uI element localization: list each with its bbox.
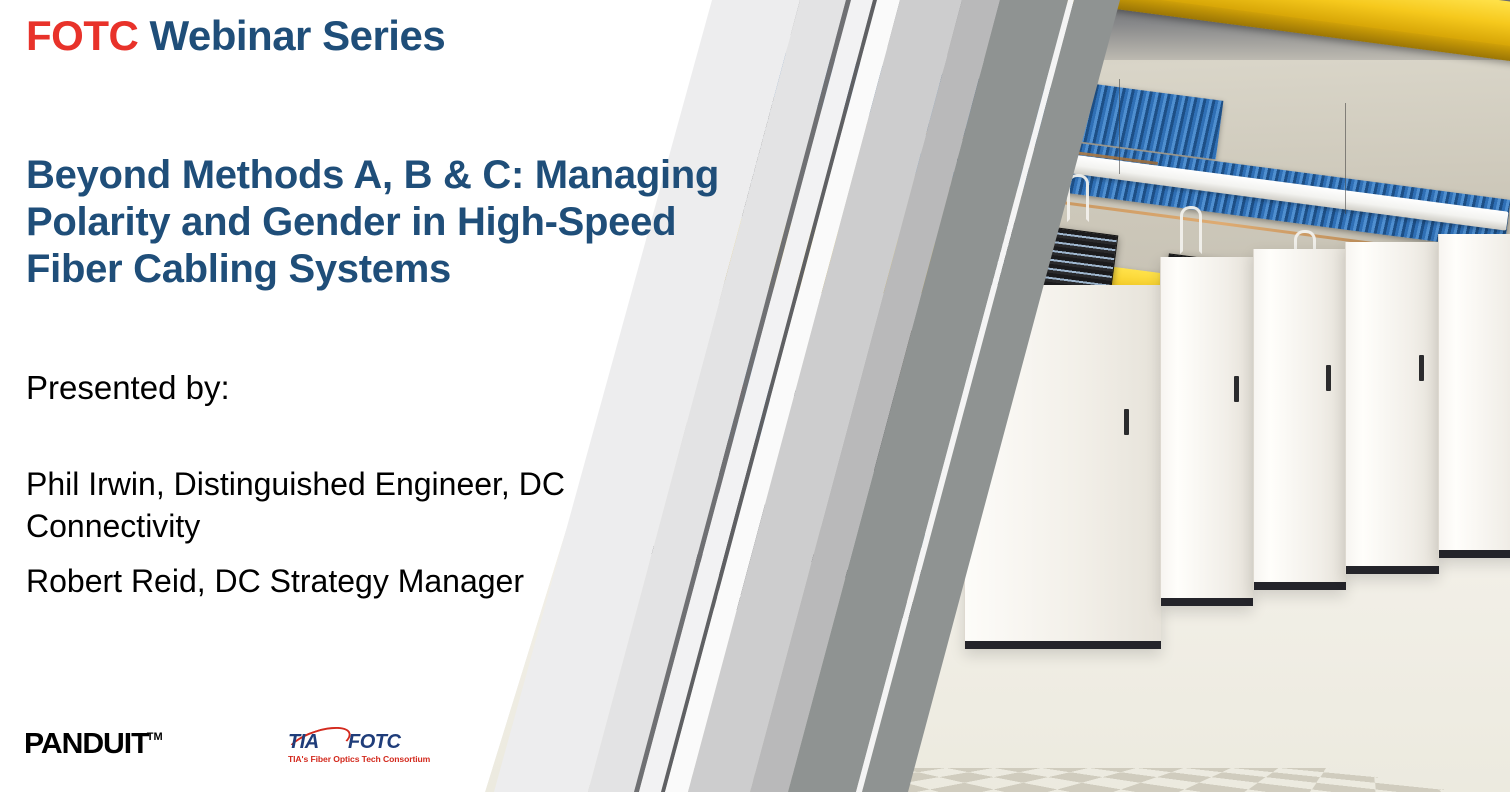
tia-fotc-lockup: TIA FOTC <box>288 731 418 753</box>
tia-fotc-logo: TIA FOTC TIA's Fiber Optics Tech Consort… <box>288 731 418 764</box>
server-cabinet <box>1438 234 1510 559</box>
person-standing-right <box>871 326 931 618</box>
cable-drop-loop <box>1180 206 1202 254</box>
hanger-rod <box>1345 103 1346 214</box>
panduit-wordmark: PANDUIT <box>24 730 149 759</box>
hanger-rod <box>789 48 790 127</box>
title-slide: FOTC Webinar Series Beyond Methods A, B … <box>0 0 1510 792</box>
series-eyebrow-accent: FOTC <box>26 12 138 59</box>
presenter-entry: Robert Reid, DC Strategy Manager <box>26 561 666 603</box>
presenter-list: Phil Irwin, Distinguished Engineer, DC C… <box>26 464 666 603</box>
panduit-logo: PANDUIT TM <box>24 730 163 759</box>
tia-wordmark: TIA <box>288 731 319 754</box>
cable-drop-loop <box>820 111 842 159</box>
series-eyebrow: FOTC Webinar Series <box>26 12 445 60</box>
presenter-entry: Phil Irwin, Distinguished Engineer, DC C… <box>26 464 666 547</box>
cable-drop-loop <box>1067 174 1089 222</box>
hanger-rod <box>1119 79 1120 174</box>
server-cabinet <box>1160 257 1254 605</box>
series-eyebrow-rest: Webinar Series <box>138 12 445 59</box>
page-title: Beyond Methods A, B & C: Managing Polari… <box>26 152 756 294</box>
server-cabinet <box>1345 242 1439 575</box>
panduit-trademark: TM <box>147 732 163 743</box>
server-cabinet <box>1253 249 1347 590</box>
cable-drop-loop <box>954 143 976 191</box>
text-column: FOTC Webinar Series Beyond Methods A, B … <box>26 0 766 792</box>
fotc-wordmark: FOTC <box>348 731 400 754</box>
presented-by-label: Presented by: <box>26 369 230 407</box>
server-cabinet <box>964 285 1161 649</box>
